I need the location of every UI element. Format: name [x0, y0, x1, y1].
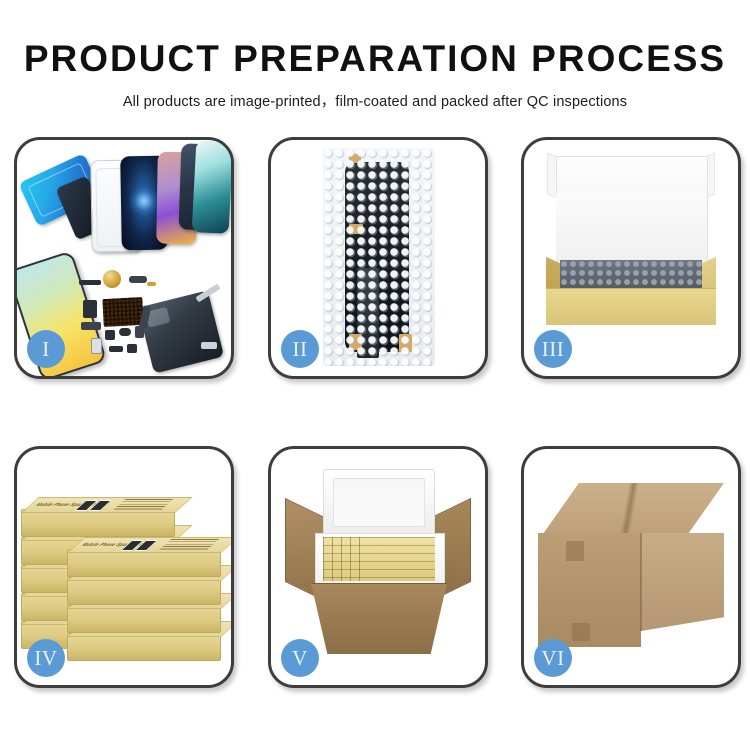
logic-board-icon: [102, 297, 143, 327]
step-panel-4: Mobile Phone Spare Parts Mobile Phone Sp…: [14, 446, 234, 688]
screw-set-icon: [201, 342, 217, 349]
step-badge-1: I: [27, 330, 65, 368]
box-label-icon: Mobile Phone Spare Parts: [74, 539, 229, 551]
retail-box-icon: [67, 633, 221, 661]
step-panel-3: III: [521, 137, 741, 379]
step-badge-4: IV: [27, 639, 65, 677]
step-panel-2: II: [268, 137, 488, 379]
spare-part-icon: [105, 330, 115, 340]
box-front-panel-icon: [546, 288, 716, 325]
retail-box-icon: [67, 605, 221, 633]
packed-boxes-icon: [323, 537, 435, 581]
spare-part-icon: [147, 282, 156, 286]
step-badge-6: VI: [534, 639, 572, 677]
carton-body-icon: [311, 583, 447, 654]
foam-sheet-icon: [556, 194, 706, 260]
bubble-padding-icon: [560, 260, 702, 290]
page-title: PRODUCT PREPARATION PROCESS: [0, 40, 750, 79]
bubble-wrap-package-icon: [323, 148, 435, 366]
step-panel-6: VI: [521, 446, 741, 688]
retail-box-icon: [67, 577, 221, 605]
retail-box-icon: Mobile Phone Spare Parts: [21, 509, 175, 537]
carton-tape-icon: [572, 623, 590, 641]
phone-rear-housing-icon: [138, 290, 224, 373]
styrofoam-lid-icon: [323, 469, 435, 537]
bubble-texture-icon: [323, 148, 435, 366]
spare-part-icon: [91, 338, 102, 354]
page-subtitle: All products are image-printed，film-coat…: [0, 90, 750, 111]
carton-tape-icon: [566, 541, 584, 561]
product-preparation-infographic: PRODUCT PREPARATION PROCESS All products…: [0, 0, 750, 750]
step-panel-5: V: [268, 446, 488, 688]
carton-edge-icon: [640, 533, 642, 631]
phone-teal-display-icon: [192, 140, 231, 234]
spare-part-icon: [109, 346, 123, 352]
retail-box-icon: Mobile Phone Spare Parts: [67, 549, 221, 577]
process-step-grid: I II: [0, 137, 750, 682]
step-badge-2: II: [281, 330, 319, 368]
step-panel-1: I: [14, 137, 234, 379]
spare-part-icon: [79, 280, 101, 285]
sealed-carton-icon: [538, 483, 724, 647]
step-badge-5: V: [281, 639, 319, 677]
box-label-icon: Mobile Phone Spare Parts: [28, 499, 183, 511]
spare-part-icon: [129, 276, 147, 283]
header: PRODUCT PREPARATION PROCESS All products…: [0, 0, 750, 111]
spare-part-icon: [119, 328, 131, 336]
step-badge-3: III: [534, 330, 572, 368]
spare-part-icon: [81, 322, 101, 330]
spare-part-icon: [127, 344, 137, 353]
speaker-module-icon: [103, 270, 121, 288]
spare-part-icon: [83, 300, 97, 318]
carton-side-face-icon: [641, 533, 724, 631]
